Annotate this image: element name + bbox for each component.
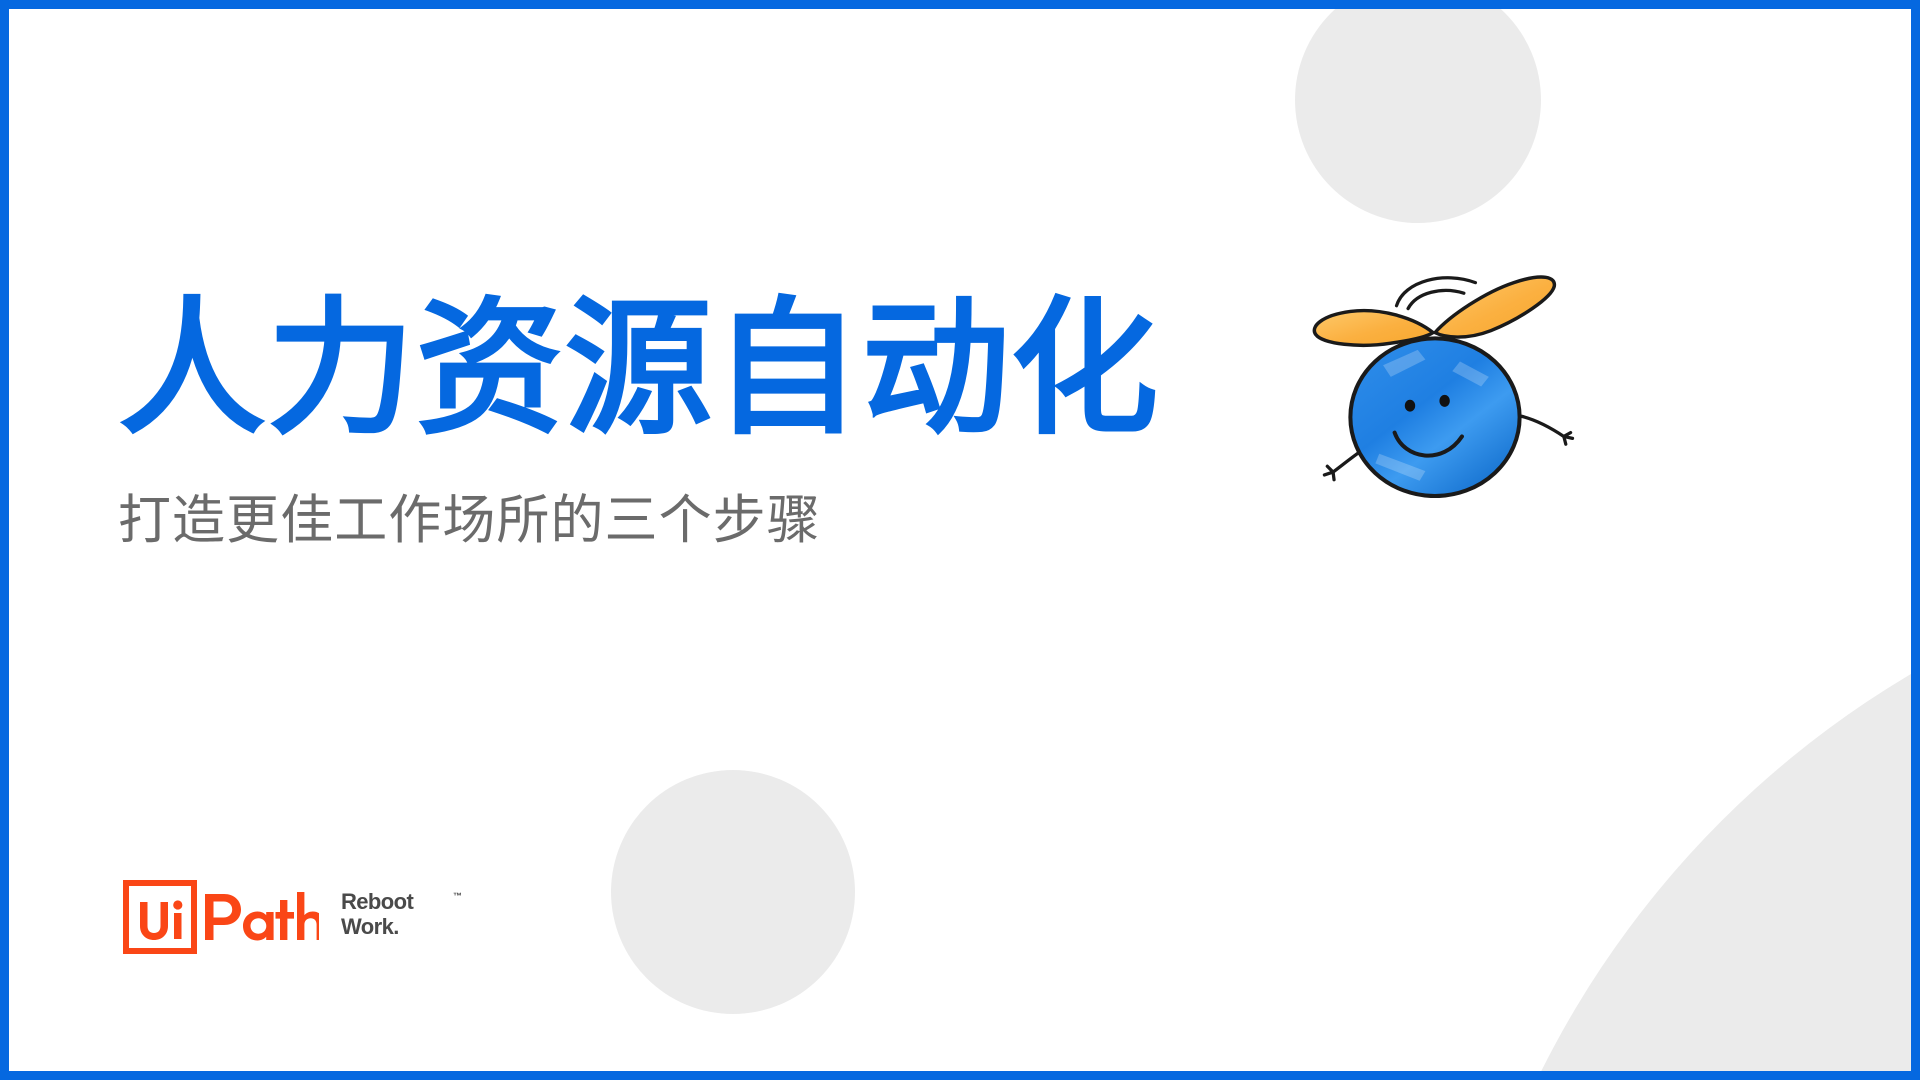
page-subtitle: 打造更佳工作场所的三个步骤 <box>118 487 1298 556</box>
svg-text:™: ™ <box>453 891 462 901</box>
title-block: 人力资源自动化 打造更佳工作场所的三个步骤 <box>118 292 1298 556</box>
right-arm <box>1522 416 1573 444</box>
svg-text:Reboot: Reboot <box>341 889 414 914</box>
right-eye <box>1439 395 1449 407</box>
svg-text:Work.: Work. <box>341 914 399 939</box>
mascot-body <box>1350 338 1519 496</box>
uipath-logo-icon <box>123 880 319 954</box>
propeller-blades <box>1314 277 1554 345</box>
uipath-logo-lockup: Reboot ™ Work. <box>123 880 471 954</box>
page-title: 人力资源自动化 <box>118 292 1298 449</box>
slide-content: 人力资源自动化 打造更佳工作场所的三个步骤 <box>0 0 1920 1080</box>
motion-arc <box>1397 278 1476 309</box>
presentation-slide: 人力资源自动化 打造更佳工作场所的三个步骤 <box>0 0 1920 1080</box>
robot-mascot-icon <box>1290 248 1580 498</box>
left-eye <box>1405 400 1415 412</box>
reboot-work-tagline-icon: Reboot ™ Work. <box>341 887 471 943</box>
